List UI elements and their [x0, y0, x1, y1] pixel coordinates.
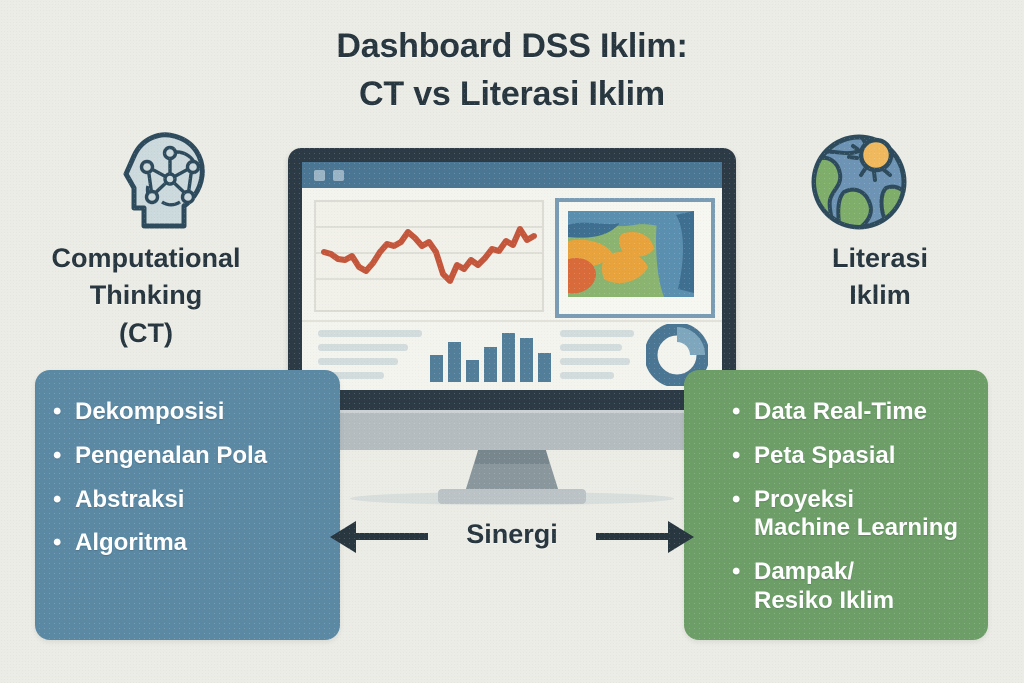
list-item-label-line-2: Resiko Iklim	[754, 587, 988, 616]
placeholder-text-line	[318, 330, 422, 337]
line-chart-panel[interactable]	[314, 200, 544, 312]
literasi-bullet-list: Data Real-Time Peta Spasial Proyeksi Mac…	[684, 370, 988, 616]
list-item[interactable]: Dekomposisi	[53, 398, 340, 427]
literasi-concept-box[interactable]: Data Real-Time Peta Spasial Proyeksi Mac…	[684, 370, 988, 640]
list-item-label: Data Real-Time	[754, 398, 927, 425]
list-item[interactable]: Abstraksi	[53, 486, 340, 515]
window-control-icon-1[interactable]	[314, 170, 325, 181]
list-item[interactable]: Algoritma	[53, 529, 340, 558]
monitor-chin	[294, 410, 730, 450]
panel-divider	[302, 320, 722, 322]
left-heading: Computational Thinking (CT)	[14, 240, 278, 352]
list-item[interactable]: Proyeksi Machine Learning	[732, 486, 988, 544]
placeholder-text-line	[560, 330, 634, 337]
title-line-1: Dashboard DSS Iklim:	[336, 27, 687, 65]
bar	[430, 355, 443, 382]
monitor-chin-highlight	[294, 410, 730, 413]
line-chart-series	[316, 202, 538, 306]
placeholder-text-line	[560, 372, 614, 379]
dashboard-monitor-illustration	[288, 148, 736, 498]
placeholder-text-line	[560, 358, 630, 365]
list-item-label: Abstraksi	[75, 486, 184, 513]
left-heading-line-3: (CT)	[14, 315, 278, 352]
dashboard-titlebar	[302, 162, 722, 188]
list-item-label: Dekomposisi	[75, 398, 224, 425]
placeholder-text-line	[560, 344, 622, 351]
window-control-icon-2[interactable]	[333, 170, 344, 181]
monitor-screen	[302, 162, 722, 390]
title-line-2: CT vs Literasi Iklim	[0, 70, 1024, 118]
bar	[538, 353, 551, 382]
right-heading-line-2: Iklim	[752, 277, 1008, 314]
placeholder-text-line	[318, 358, 398, 365]
bar	[520, 338, 533, 382]
infographic-canvas: Dashboard DSS Iklim: CT vs Literasi Ikli…	[0, 0, 1024, 683]
sinergi-connector: Sinergi	[330, 508, 694, 566]
map-panel[interactable]	[555, 198, 715, 318]
ct-concept-box[interactable]: Dekomposisi Pengenalan Pola Abstraksi Al…	[35, 370, 340, 640]
list-item[interactable]: Dampak/ Resiko Iklim	[732, 558, 988, 616]
bar	[502, 333, 515, 382]
page-title: Dashboard DSS Iklim: CT vs Literasi Ikli…	[0, 22, 1024, 119]
bar	[466, 360, 479, 382]
list-item-label: Proyeksi	[754, 486, 854, 513]
globe-sun-icon	[804, 126, 914, 236]
list-item-label: Algoritma	[75, 529, 187, 556]
list-item[interactable]: Data Real-Time	[732, 398, 988, 427]
monitor-base	[438, 489, 586, 504]
bar-chart-widget[interactable]	[430, 324, 550, 382]
list-item-label: Peta Spasial	[754, 442, 895, 469]
map-choropleth	[568, 211, 702, 305]
right-heading-line-1: Literasi	[752, 240, 1008, 277]
left-heading-line-1: Computational	[14, 240, 278, 277]
list-item-label-line-2: Machine Learning	[754, 514, 988, 543]
ct-bullet-list: Dekomposisi Pengenalan Pola Abstraksi Al…	[35, 370, 340, 558]
sinergi-label: Sinergi	[330, 519, 694, 550]
list-item-label: Dampak/	[754, 558, 854, 585]
bar	[484, 347, 497, 382]
list-item[interactable]: Peta Spasial	[732, 442, 988, 471]
list-item[interactable]: Pengenalan Pola	[53, 442, 340, 471]
list-item-label: Pengenalan Pola	[75, 442, 267, 469]
monitor-stand-highlight	[465, 450, 559, 464]
left-heading-line-2: Thinking	[14, 277, 278, 314]
head-network-icon	[108, 122, 220, 234]
bar	[448, 342, 461, 382]
right-heading: Literasi Iklim	[752, 240, 1008, 315]
placeholder-text-line	[318, 344, 408, 351]
